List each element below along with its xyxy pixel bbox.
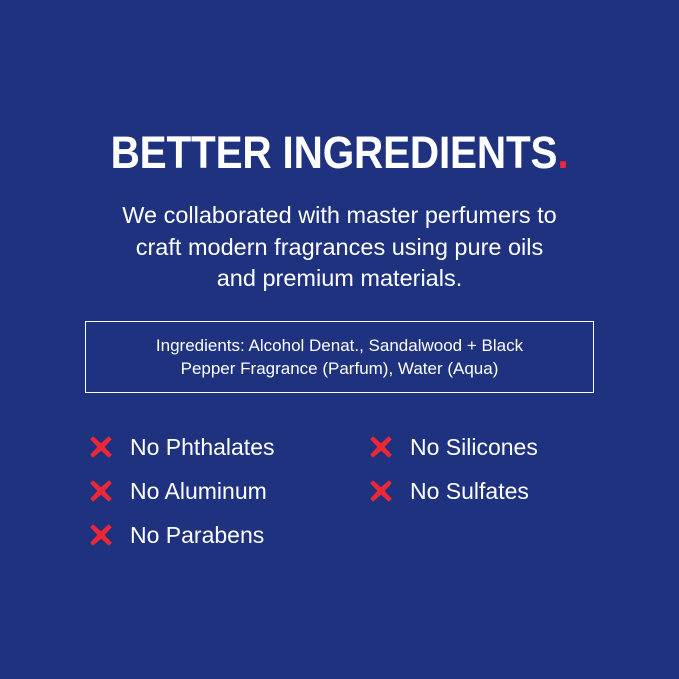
claim-item-no-sulfates: No Sulfates <box>368 469 538 513</box>
claim-item-no-parabens: No Parabens <box>88 513 274 557</box>
red-x-icon <box>368 478 394 504</box>
claim-item-no-aluminum: No Aluminum <box>88 469 274 513</box>
claim-item-no-silicones: No Silicones <box>368 425 538 469</box>
subtitle-line: We collaborated with master perfumers to <box>80 200 600 232</box>
red-x-icon <box>88 522 114 548</box>
red-x-icon <box>368 434 394 460</box>
claims-column-right: No Silicones No Sulfates <box>368 425 538 513</box>
ingredients-line: Ingredients: Alcohol Denat., Sandalwood … <box>156 334 523 357</box>
page-title: BETTER INGREDIENTS. <box>34 128 645 178</box>
ingredients-line: Pepper Fragrance (Parfum), Water (Aqua) <box>156 357 523 380</box>
ingredients-list-text: Ingredients: Alcohol Denat., Sandalwood … <box>146 334 533 380</box>
product-ingredients-infographic: BETTER INGREDIENTS. We collaborated with… <box>0 0 679 679</box>
page-title-text: BETTER INGREDIENTS <box>111 127 558 178</box>
claim-item-no-phthalates: No Phthalates <box>88 425 274 469</box>
page-title-accent-period: . <box>557 127 568 178</box>
subtitle-line: and premium materials. <box>80 263 600 295</box>
claim-label: No Aluminum <box>130 478 267 504</box>
claim-label: No Sulfates <box>410 478 529 504</box>
subtitle: We collaborated with master perfumers to… <box>80 200 600 295</box>
claim-label: No Phthalates <box>130 434 274 460</box>
red-x-icon <box>88 478 114 504</box>
subtitle-line: craft modern fragrances using pure oils <box>80 232 600 264</box>
claim-label: No Silicones <box>410 434 538 460</box>
ingredients-list-box: Ingredients: Alcohol Denat., Sandalwood … <box>85 321 594 393</box>
claim-label: No Parabens <box>130 522 264 548</box>
claims-column-left: No Phthalates No Aluminum No Parabens <box>88 425 274 557</box>
red-x-icon <box>88 434 114 460</box>
